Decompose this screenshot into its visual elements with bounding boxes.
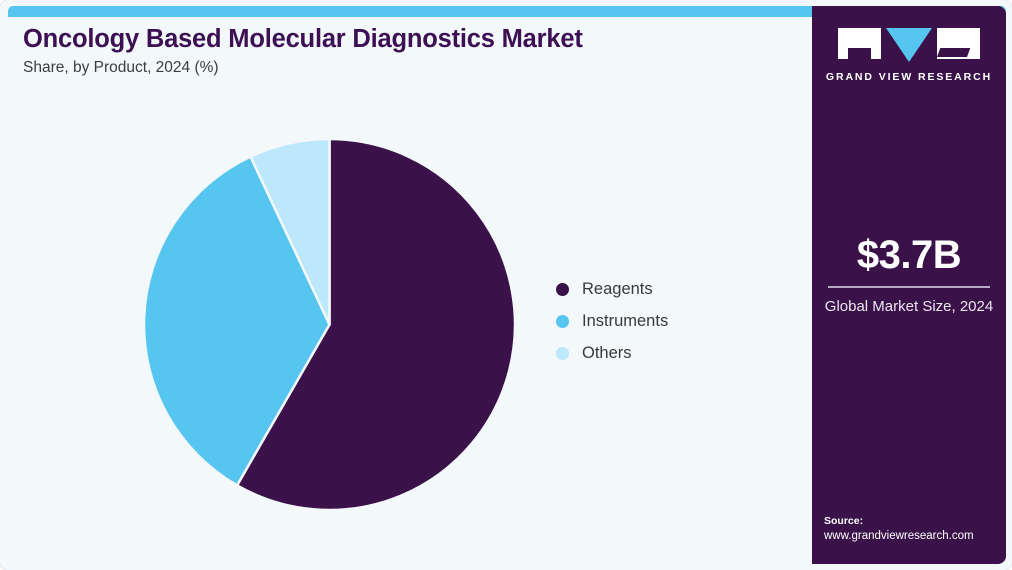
header: Oncology Based Molecular Diagnostics Mar… [23,25,783,77]
logo-marks [838,28,980,62]
logo-g-icon [838,28,881,59]
legend-swatch-icon [556,315,569,328]
legend-item-reagents[interactable]: Reagents [556,280,668,299]
pie-chart-svg [144,139,515,510]
source-url[interactable]: www.grandviewresearch.com [824,529,1006,545]
legend-swatch-icon [556,283,569,296]
legend-item-label: Others [582,344,632,363]
legend-item-label: Instruments [582,312,668,331]
pie-chart [144,139,515,510]
legend-item-others[interactable]: Others [556,344,668,363]
brand-side-panel: GRAND VIEW RESEARCH $3.7B Global Market … [812,6,1006,564]
stat-caption: Global Market Size, 2024 [824,297,994,317]
source-label: Source: [824,514,1006,530]
logo-v-triangle-icon [886,28,932,62]
logo-r-icon [937,28,980,59]
pie-slice-group [144,139,515,510]
logo-wordmark: GRAND VIEW RESEARCH [826,71,992,83]
chart-legend: Reagents Instruments Others [556,280,668,363]
source-block: Source: www.grandviewresearch.com [824,514,1006,545]
stat-divider [828,286,990,288]
legend-item-instruments[interactable]: Instruments [556,312,668,331]
page-title: Oncology Based Molecular Diagnostics Mar… [23,25,783,54]
page-subtitle: Share, by Product, 2024 (%) [23,59,783,77]
brand-logo: GRAND VIEW RESEARCH [812,28,1006,83]
legend-swatch-icon [556,347,569,360]
infographic-card: Oncology Based Molecular Diagnostics Mar… [0,0,1012,570]
stat-block: $3.7B Global Market Size, 2024 [812,234,1006,317]
stat-value: $3.7B [824,234,994,276]
legend-item-label: Reagents [582,280,653,299]
